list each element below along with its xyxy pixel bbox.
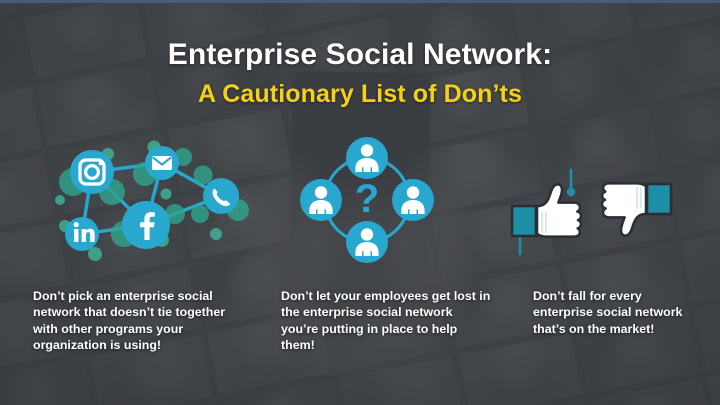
caption-row: Don’t pick an enterprise social network …: [0, 288, 720, 380]
people-question-icon: ?: [297, 136, 437, 266]
slide-title: Enterprise Social Network:: [0, 38, 720, 73]
person-icon-bottom: [346, 221, 388, 263]
question-mark-icon: ?: [355, 177, 379, 221]
social-network-cluster-icon: [50, 130, 250, 270]
caption-integration: Don’t pick an enterprise social network …: [33, 288, 248, 354]
caption-selection: Don’t fall for every enterprise social n…: [533, 288, 698, 337]
person-icon-left: [300, 179, 342, 221]
thumbs-down-icon: [602, 183, 671, 235]
person-icon-top: [346, 137, 388, 179]
top-accent-strip: [0, 0, 720, 3]
caption-engagement: Don’t let your employees get lost in the…: [281, 288, 491, 354]
title-block: Enterprise Social Network: A Cautionary …: [0, 38, 720, 109]
presentation-slide: Enterprise Social Network: A Cautionary …: [0, 0, 720, 405]
thumbs-rating-icon: [510, 168, 675, 258]
illustration-row: ?: [0, 130, 720, 275]
instagram-icon: [70, 150, 114, 194]
person-icon-right: [392, 179, 434, 221]
slide-subtitle: A Cautionary List of Don’ts: [0, 80, 720, 110]
phone-icon: [203, 178, 239, 214]
